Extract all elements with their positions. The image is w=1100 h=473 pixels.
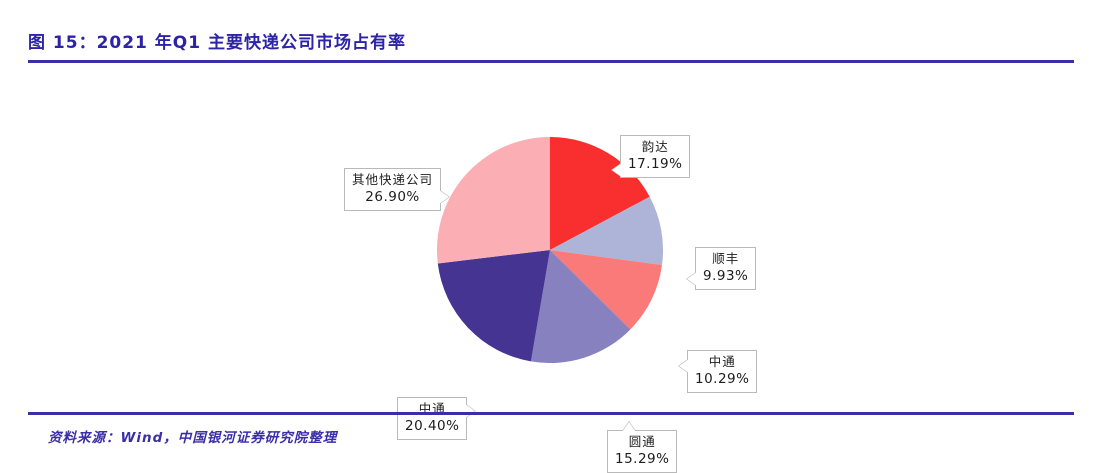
- pie-label-value: 20.40%: [405, 418, 459, 435]
- figure-page: 图 15：2021 年Q1 主要快递公司市场占有率 韵达 17.19%: [0, 0, 1100, 472]
- title-divider: [28, 60, 1074, 63]
- pie-label-other: 其他快递公司 26.90%: [344, 168, 441, 211]
- source-note: 资料来源：Wind，中国银河证券研究院整理: [48, 426, 337, 446]
- pie-label-zto-1: 中通 20.40%: [397, 397, 467, 440]
- pie-label-name: 韵达: [628, 139, 682, 155]
- callout-notch-icon: [612, 163, 622, 177]
- pie-label-name: 顺丰: [703, 251, 748, 267]
- pie-label-name: 其他快递公司: [352, 172, 433, 188]
- pie-label-value: 10.29%: [695, 371, 749, 388]
- page-title: 图 15：2021 年Q1 主要快递公司市场占有率: [28, 28, 406, 53]
- pie-slice-zto-1[interactable]: [438, 250, 550, 361]
- chart-area: 韵达 17.19% 顺丰 9.93% 中通 10.29% 圆通 15.29% 中…: [28, 64, 1074, 410]
- pie-label-zto-2: 中通 10.29%: [687, 350, 757, 393]
- callout-notch-icon: [679, 359, 689, 373]
- callout-notch-icon: [439, 190, 449, 204]
- pie-label-sf: 顺丰 9.93%: [695, 247, 756, 290]
- callout-notch-icon: [687, 272, 697, 286]
- pie-label-name: 中通: [695, 354, 749, 370]
- callout-notch-icon: [465, 404, 475, 418]
- callout-notch-icon: [622, 422, 636, 432]
- pie-label-yto: 圆通 15.29%: [607, 430, 677, 473]
- pie-slice-other[interactable]: [437, 137, 550, 263]
- pie-label-yunda: 韵达 17.19%: [620, 135, 690, 178]
- pie-label-value: 9.93%: [703, 268, 748, 285]
- pie-label-name: 圆通: [615, 434, 669, 450]
- pie-label-value: 15.29%: [615, 451, 669, 468]
- pie-label-value: 17.19%: [628, 156, 682, 173]
- footer-divider: [28, 412, 1074, 415]
- pie-label-value: 26.90%: [352, 189, 433, 206]
